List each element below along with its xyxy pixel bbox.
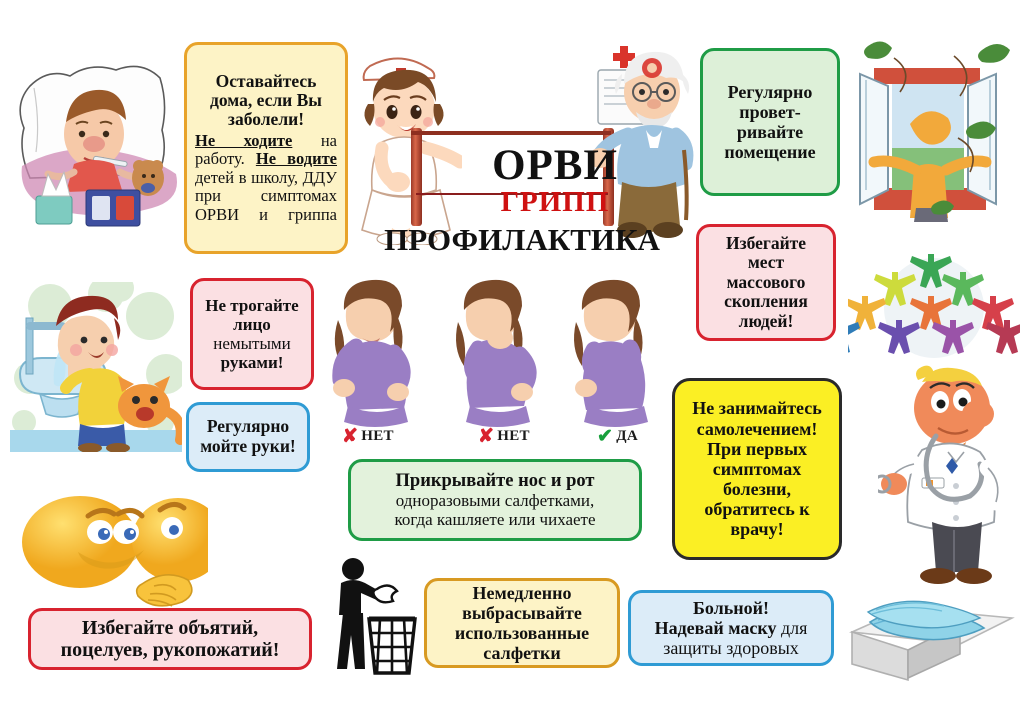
ventilate-text: Регулярно провет-ривайте помещение <box>711 82 829 163</box>
box-cover-mouth-and-nose[interactable]: Прикрывайте нос и рот одноразовыми салфе… <box>348 459 642 541</box>
stay-home-body: Не ходите на работу. Не водите детей в ш… <box>195 132 337 224</box>
cross-icon: ✘ <box>478 427 494 446</box>
poster-title: ОРВИ ГРИПП <box>430 145 680 218</box>
verdict-yes: ✔ ДА <box>597 427 638 446</box>
dont-touch-face-line-1: Не трогайте лицо <box>201 296 303 334</box>
cover-mouth-line-1: Прикрывайте нос и рот <box>359 471 631 492</box>
verdict-no-1: ✘ НЕТ <box>342 427 394 446</box>
box-discard-used-tissues[interactable]: Немедленно выбрасывайте использованные с… <box>424 578 620 668</box>
cartoon-doctor-with-stethoscope-illustration <box>878 362 1020 590</box>
boy-washing-hands-illustration <box>10 282 182 452</box>
avoid-crowds-text: Избегайте мест массового скопления людей… <box>707 234 825 332</box>
box-ventilate-room[interactable]: Регулярно провет-ривайте помещение <box>700 48 840 196</box>
wash-hands-text: Регулярно мойте руки! <box>197 417 299 456</box>
no-self-treatment-text: Не занимайтесь самолечением! При первых … <box>683 398 831 539</box>
verdict-label: ДА <box>616 428 638 445</box>
wear-mask-line-3: защиты здоровых <box>639 638 823 658</box>
box-stay-home[interactable]: Оставайтесь дома, если Вы заболели! Не х… <box>184 42 348 254</box>
box-no-self-treatment[interactable]: Не занимайтесь самолечением! При первых … <box>672 378 842 560</box>
check-icon: ✔ <box>597 427 613 446</box>
box-dont-touch-face[interactable]: Не трогайте лицо немытыми руками! <box>190 278 314 390</box>
wear-mask-plain: для <box>777 618 808 638</box>
cross-icon: ✘ <box>342 427 358 446</box>
verdict-label: НЕТ <box>361 428 394 445</box>
wear-mask-line-1: Больной! <box>639 598 823 618</box>
stay-home-heading: Оставайтесь дома, если Вы заболели! <box>195 72 337 130</box>
title-gripp: ГРИПП <box>430 187 680 217</box>
box-wear-mask[interactable]: Больной! Надевай маску для защиты здоров… <box>628 590 834 666</box>
discard-tissues-text: Немедленно выбрасывайте использованные с… <box>435 583 609 664</box>
stay-home-emph-2: Не водите <box>256 149 337 168</box>
stay-home-emph-1: Не ходите <box>195 131 292 150</box>
verdict-no-2: ✘ НЕТ <box>478 427 530 446</box>
coughing-sneezing-postures-illustration <box>322 276 652 432</box>
title-profilaktika: ПРОФИЛАКТИКА <box>372 222 672 258</box>
wear-mask-text: Больной! Надевай маску для защиты здоров… <box>639 598 823 658</box>
banner-pole-left <box>411 128 422 226</box>
title-orvi: ОРВИ <box>430 145 680 187</box>
dont-touch-face-line-3: руками! <box>201 353 303 372</box>
verdict-label: НЕТ <box>497 428 530 445</box>
cover-mouth-line-3: когда кашляете или чихаете <box>359 510 631 529</box>
throw-tissue-in-bin-pictogram <box>325 555 425 675</box>
avoid-contact-line-2: поцелуев, рукопожатий! <box>39 639 301 661</box>
box-avoid-hugs-kisses-handshakes[interactable]: Избегайте объятий, поцелуев, рукопожатий… <box>28 608 312 670</box>
paper-people-crowd-illustration <box>848 252 1020 370</box>
stay-home-text-2: детей в школу, ДДУ при симптомах ОРВИ и … <box>195 168 337 224</box>
wear-mask-emph: Надевай маску <box>655 618 777 638</box>
smiley-faces-handshake-illustration <box>18 488 208 610</box>
box-of-medical-masks-illustration <box>842 592 1020 684</box>
open-window-ventilation-illustration <box>846 28 1021 223</box>
dont-touch-face-line-2: немытыми <box>201 334 303 353</box>
avoid-contact-line-1: Избегайте объятий, <box>39 617 301 639</box>
cover-mouth-text: Прикрывайте нос и рот одноразовыми салфе… <box>359 471 631 530</box>
sick-child-in-bed-illustration <box>8 38 188 243</box>
box-wash-hands[interactable]: Регулярно мойте руки! <box>186 402 310 472</box>
dont-touch-face-text: Не трогайте лицо немытыми руками! <box>201 296 303 372</box>
wear-mask-line-2: Надевай маску для <box>639 618 823 638</box>
cover-mouth-line-2: одноразовыми салфетками, <box>359 491 631 510</box>
box-avoid-crowds[interactable]: Избегайте мест массового скопления людей… <box>696 224 836 341</box>
poster-canvas: Оставайтесь дома, если Вы заболели! Не х… <box>0 0 1024 724</box>
avoid-contact-text: Избегайте объятий, поцелуев, рукопожатий… <box>39 617 301 662</box>
